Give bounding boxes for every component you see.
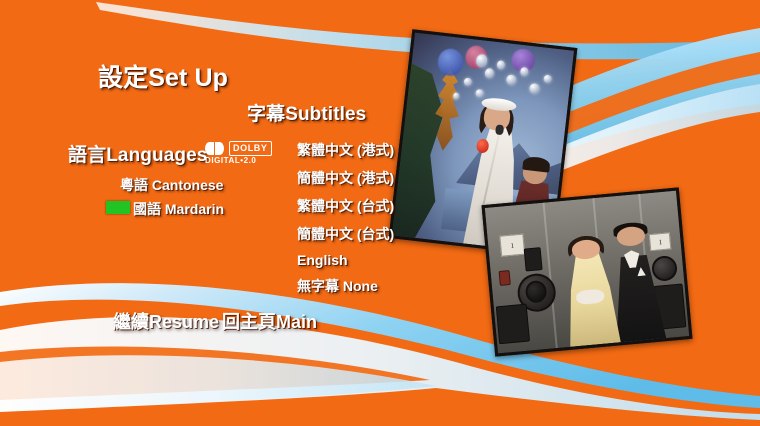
- dolby-double-d-icon: [205, 142, 225, 155]
- dolby-digital-icon: DOLBY DIGITAL•2.0: [205, 141, 277, 165]
- subtitle-option-simp-hk[interactable]: 簡體中文 (港式): [297, 168, 394, 188]
- main-menu-button[interactable]: 回主頁Main: [222, 308, 317, 334]
- resume-button[interactable]: 繼續Resume: [113, 308, 219, 334]
- subtitle-option-simp-tw[interactable]: 簡體中文 (台式): [297, 224, 394, 244]
- language-option-mandarin[interactable]: 國語 Mardarin: [133, 199, 224, 219]
- subtitle-option-trad-tw[interactable]: 繁體中文 (台式): [297, 196, 394, 216]
- subtitles-heading: 字幕Subtitles: [247, 99, 366, 126]
- page-title: 設定Set Up: [98, 58, 228, 94]
- selection-highlight-cursor: [106, 201, 130, 214]
- dolby-wordmark: DOLBY: [229, 141, 272, 156]
- languages-label: 語言Languages: [68, 140, 207, 167]
- subtitle-option-english[interactable]: English: [297, 252, 394, 268]
- language-option-cantonese[interactable]: 粵語 Cantonese: [120, 175, 223, 195]
- photo-couple-in-studio: 1 1: [482, 187, 693, 356]
- subtitle-option-none[interactable]: 無字幕 None: [297, 276, 394, 296]
- subtitle-option-trad-hk[interactable]: 繁體中文 (港式): [297, 140, 394, 160]
- dolby-digital-sub: DIGITAL•2.0: [205, 156, 256, 165]
- subtitle-option-list: 繁體中文 (港式) 簡體中文 (港式) 繁體中文 (台式) 簡體中文 (台式) …: [297, 140, 394, 304]
- dvd-menu-screen: 1 1 設定Set Up 字幕Subtitles 語言Languages: [0, 0, 760, 426]
